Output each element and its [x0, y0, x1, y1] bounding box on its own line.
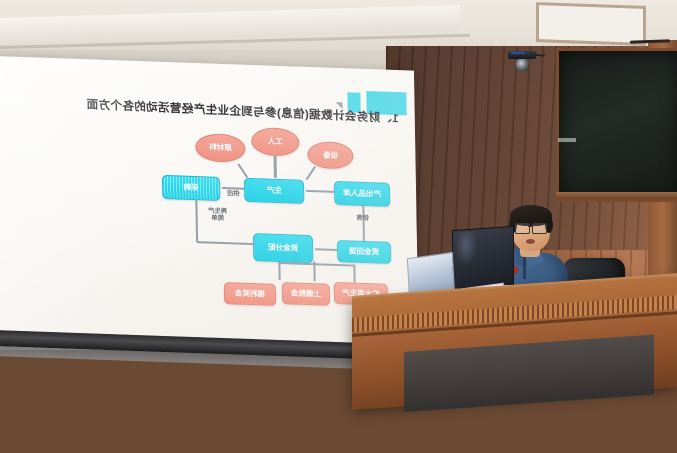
blackboard: [556, 48, 677, 202]
connector: [315, 248, 337, 250]
connector: [274, 156, 277, 178]
slide-node-fuli: 福利奖金: [224, 282, 276, 306]
connector: [354, 265, 356, 283]
speaker-placket: [523, 257, 526, 279]
glasses-icon: [532, 223, 547, 234]
blackboard-chalk-tray: [556, 192, 677, 199]
speaker-mouth: [526, 239, 535, 244]
connector: [237, 163, 248, 178]
connector: [279, 262, 281, 280]
blackboard-glint: [558, 138, 576, 142]
connector: [306, 166, 316, 180]
connector: [363, 204, 365, 241]
edge-label-gongying: 供应: [220, 190, 246, 198]
node-label: 产出品入库: [343, 189, 381, 198]
node-label: 资金分配: [268, 244, 299, 253]
node-label: 设备: [323, 151, 338, 160]
camera-lens-icon: [516, 59, 529, 71]
lecture-hall-photo: 1、财务会计数据(信息)参与到企业生产经营活动的各个方面 设备 工人 原材料 生: [0, 0, 677, 453]
node-label: 资金回笼: [349, 247, 380, 256]
slide-node-gongren: 工人: [251, 127, 299, 157]
glasses-bridge: [528, 226, 532, 227]
node-label: 上缴税金: [291, 289, 322, 298]
connector: [197, 241, 255, 245]
monitor-glow: [455, 231, 477, 267]
slide-node-zijin-fenpei: 资金分配: [253, 233, 313, 263]
edge-label-zaishengchan: 再生产 简单: [198, 207, 236, 223]
slide-node-zijin-huilong: 资金回笼: [337, 240, 391, 264]
node-label: 原材料: [209, 144, 232, 153]
slide-node-yuancailiao: 原材料: [195, 133, 245, 163]
ceiling-light-panel: [536, 2, 646, 46]
connector: [314, 261, 316, 281]
node-label: 生产: [266, 187, 281, 196]
node-label: 福利奖金: [235, 289, 266, 298]
node-label: 工人: [268, 138, 283, 147]
connector: [306, 190, 334, 193]
slide-node-caigou: 采购: [162, 175, 220, 201]
slide-title: 1、财务会计数据(信息)参与到企业生产经营活动的各个方面: [7, 92, 399, 126]
speaker-hand-right: [470, 205, 590, 217]
glasses-icon: [515, 223, 530, 234]
camera-accent-strip: [511, 52, 525, 54]
slide-node-shuijin: 上缴税金: [282, 282, 330, 306]
node-label: 采购: [183, 184, 198, 193]
connector: [222, 187, 244, 189]
connector: [279, 262, 355, 266]
edge-label-xiaoshou: 销售: [350, 214, 374, 222]
slide-node-shengchan: 生产: [244, 178, 304, 204]
